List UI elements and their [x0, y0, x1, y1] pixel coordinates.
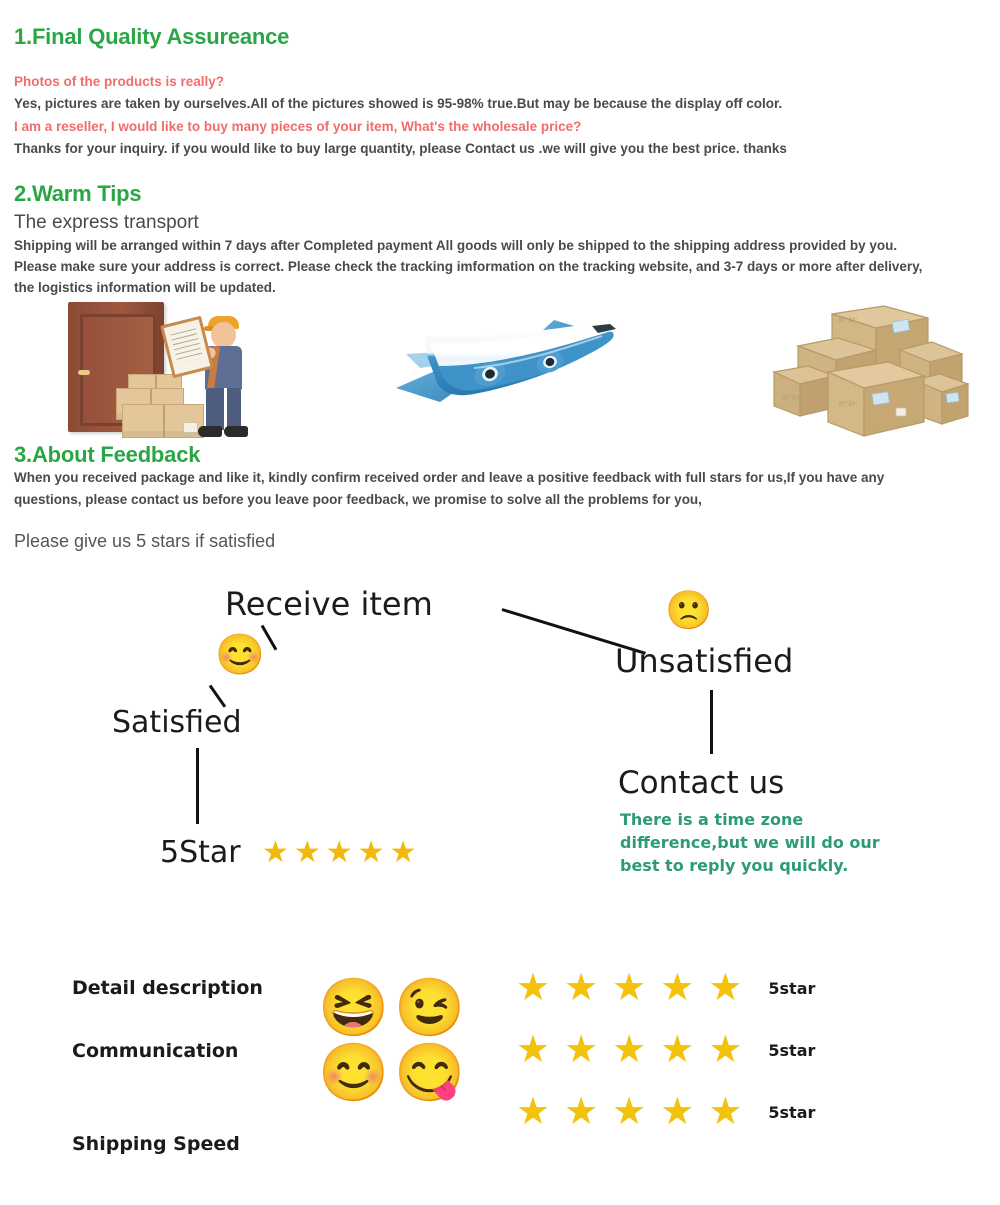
rating-stars-row: ★★★★★5star [516, 969, 815, 1007]
star-icon: ★ [516, 969, 550, 1007]
airplane-icon [378, 310, 628, 420]
winking-emoji-icon: 😉 [394, 977, 470, 1042]
rating-stars-row: ★★★★★5star [516, 1031, 815, 1069]
smiling-emoji-icon: 😊 [318, 1042, 394, 1107]
feedback-line-1: When you received package and like it, k… [14, 470, 884, 485]
rating-value-label: 5star [768, 1041, 815, 1060]
star-icon: ★ [660, 1031, 694, 1069]
express-transport-subheading: The express transport [14, 212, 199, 234]
cardboard-boxes-illustration: â†‘â†‘ â†‘â†‘ â†‘â†‘ [772, 296, 982, 442]
connector-unsatisfied-to-contact [710, 690, 713, 754]
rating-label-detail-description: Detail description [72, 977, 263, 999]
shipping-line-3: the logistics information will be update… [14, 280, 276, 295]
boxes-icon: â†‘â†‘ â†‘â†‘ â†‘â†‘ [772, 296, 982, 442]
seller-ratings-block: Detail description Communication Shippin… [0, 955, 1000, 1175]
star-icon: ★ [516, 1093, 550, 1131]
faq-question-1: Photos of the products is really? [14, 74, 224, 89]
feedback-flow-diagram: Receive item 😊 Satisfied 5Star ★★★★★ 🙁 U… [70, 580, 930, 910]
diagram-receive-item-label: Receive item [225, 585, 433, 623]
star-icon: ★ [708, 969, 742, 1007]
star-icon: ★ [516, 1031, 550, 1069]
satisfied-emoji-icon: 😊 [215, 635, 265, 675]
svg-text:â†‘â†‘: â†‘â†‘ [838, 316, 858, 324]
courier-figure-icon [180, 306, 270, 438]
delivery-man-at-door-illustration [68, 296, 318, 442]
faq-answer-1: Yes, pictures are taken by ourselves.All… [14, 96, 782, 111]
rating-stars-row: ★★★★★5star [516, 1093, 815, 1131]
rating-value-label: 5star [768, 1103, 815, 1122]
airplane-illustration [378, 310, 628, 420]
rating-label-communication: Communication [72, 1040, 238, 1062]
star-icon: ★ [612, 969, 646, 1007]
star-icon: ★ [564, 1093, 598, 1131]
rating-value-label: 5star [768, 979, 815, 998]
tongue-emoji-icon: 😋 [394, 1042, 470, 1107]
diagram-contact-us-label: Contact us [618, 765, 784, 801]
section-3-heading: 3.About Feedback [14, 442, 200, 468]
star-icon: ★ [660, 1093, 694, 1131]
star-icon: ★ [564, 969, 598, 1007]
svg-text:â†‘â†‘: â†‘â†‘ [782, 394, 802, 402]
star-icon: ★ [612, 1093, 646, 1131]
shipping-line-2: Please make sure your address is correct… [14, 259, 922, 274]
rating-label-shipping-speed: Shipping Speed [72, 1133, 240, 1155]
faq-answer-2: Thanks for your inquiry. if you would li… [14, 141, 787, 156]
unsatisfied-emoji-icon: 🙁 [665, 592, 712, 630]
star-icon: ★ [612, 1031, 646, 1069]
shipping-illustrations: â†‘â†‘ â†‘â†‘ â†‘â†‘ [0, 296, 1000, 442]
section-2-heading: 2.Warm Tips [14, 181, 141, 207]
feedback-line-2: questions, please contact us before you … [14, 492, 702, 507]
emoji-cluster: 😆 😉 😊 😋 [318, 977, 470, 1107]
star-icon: ★ [708, 1031, 742, 1069]
diagram-contact-note: There is a time zone difference,but we w… [620, 808, 920, 877]
diagram-5star-label: 5Star [160, 835, 241, 870]
diagram-unsatisfied-label: Unsatisfied [615, 642, 793, 680]
star-icon: ★ [660, 969, 694, 1007]
star-icon: ★ [708, 1093, 742, 1131]
five-star-callout: Please give us 5 stars if satisfied [14, 531, 275, 552]
shipping-line-1: Shipping will be arranged within 7 days … [14, 238, 897, 253]
faq-question-2: I am a reseller, I would like to buy man… [14, 119, 581, 134]
diagram-star-rating: ★★★★★ [262, 838, 421, 868]
product-policy-page: 1.Final Quality Assureance Photos of the… [0, 0, 1000, 1205]
laughing-emoji-icon: 😆 [318, 977, 394, 1042]
section-1-heading: 1.Final Quality Assureance [14, 24, 289, 50]
svg-text:â†‘â†‘: â†‘â†‘ [838, 400, 858, 408]
star-icon: ★ [564, 1031, 598, 1069]
diagram-satisfied-label: Satisfied [112, 705, 242, 740]
connector-satisfied-to-5star [196, 748, 199, 824]
